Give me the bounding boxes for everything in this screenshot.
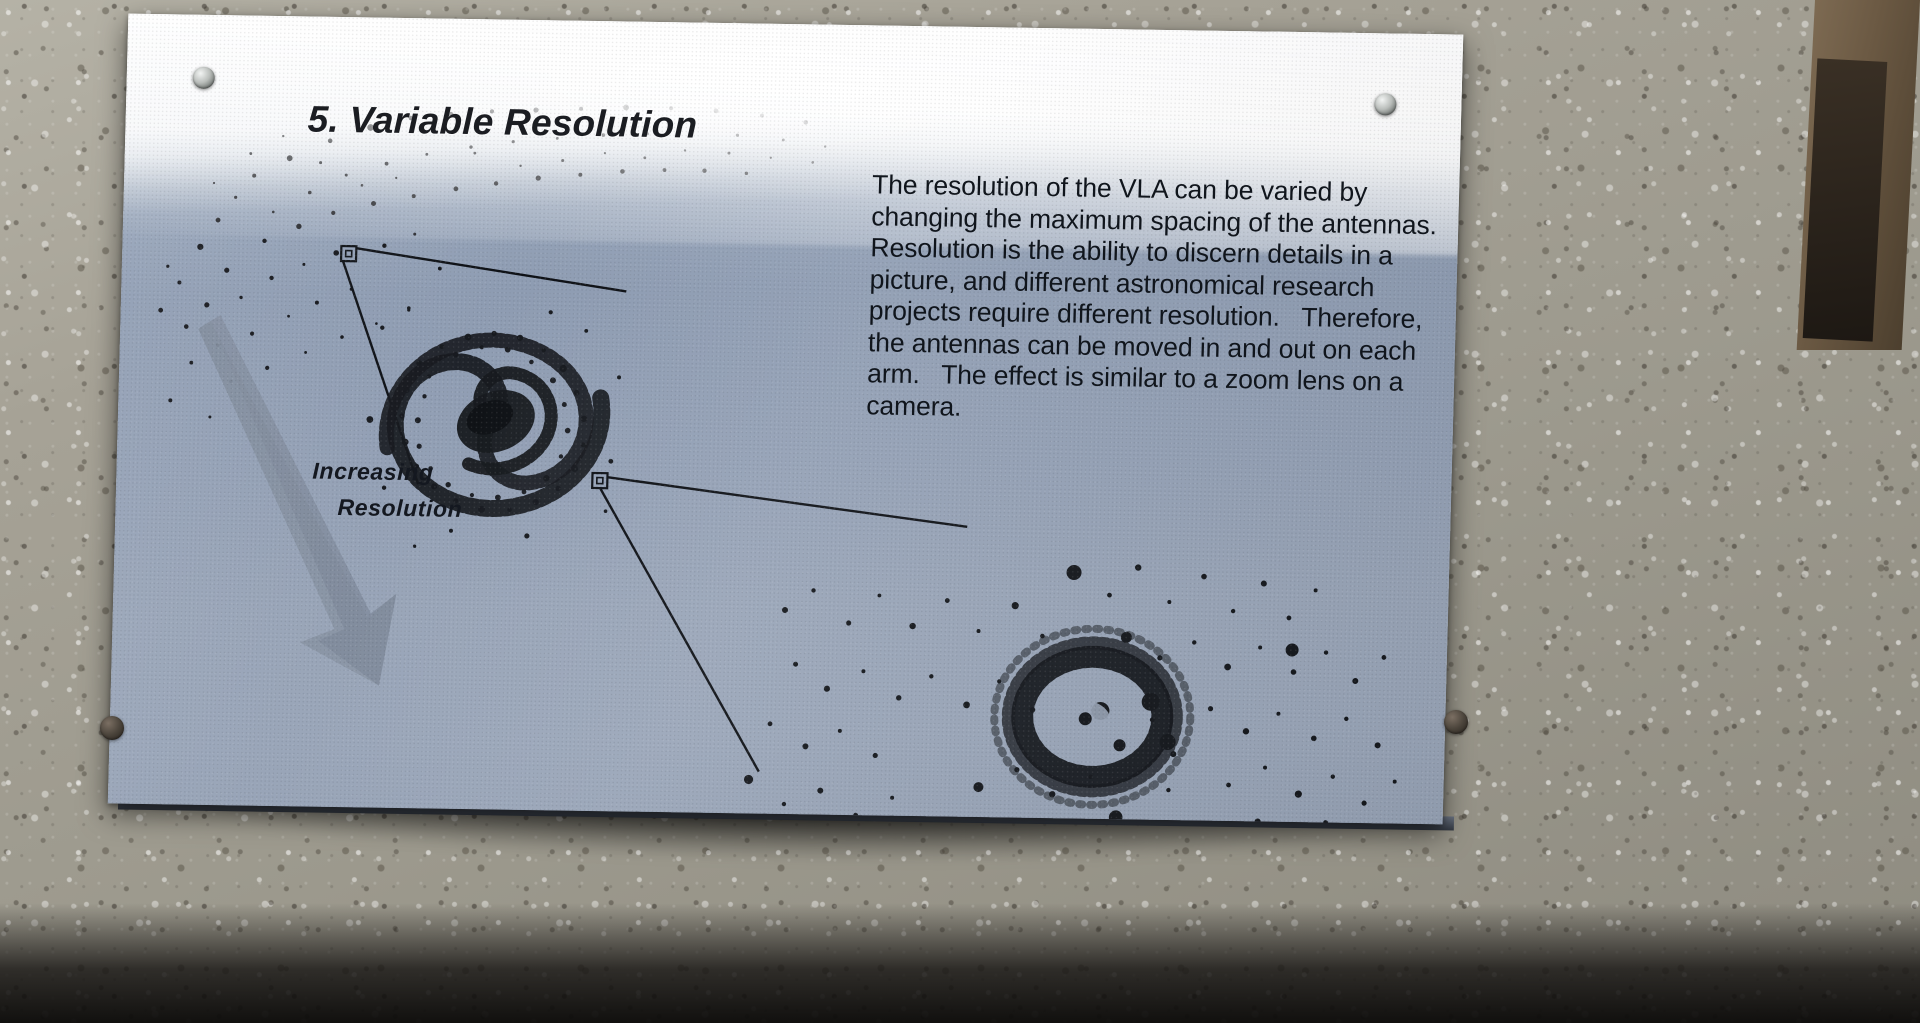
bolt-bottom-left <box>100 716 124 740</box>
radio-source-closeup <box>743 558 1402 824</box>
callout-box-galaxy <box>592 473 607 488</box>
bolt-bottom-right <box>1444 710 1468 734</box>
body-paragraph: The resolution of the VLA can be varied … <box>866 169 1463 432</box>
increasing-resolution-label: Increasing Resolution <box>311 453 543 529</box>
page-title: 5. Variable Resolution <box>307 98 698 146</box>
arrow-label-line-1: Increasing <box>312 458 434 486</box>
screenshot-stage: 5. Variable Resolution The resolution of… <box>0 0 1920 1023</box>
arrow-label-line-2: Resolution <box>311 489 542 529</box>
interpretive-sign-panel: 5. Variable Resolution The resolution of… <box>108 14 1464 825</box>
foreground-shadow <box>0 903 1920 1023</box>
callout-box-starfield <box>341 246 356 261</box>
post-shadow <box>1803 58 1888 341</box>
